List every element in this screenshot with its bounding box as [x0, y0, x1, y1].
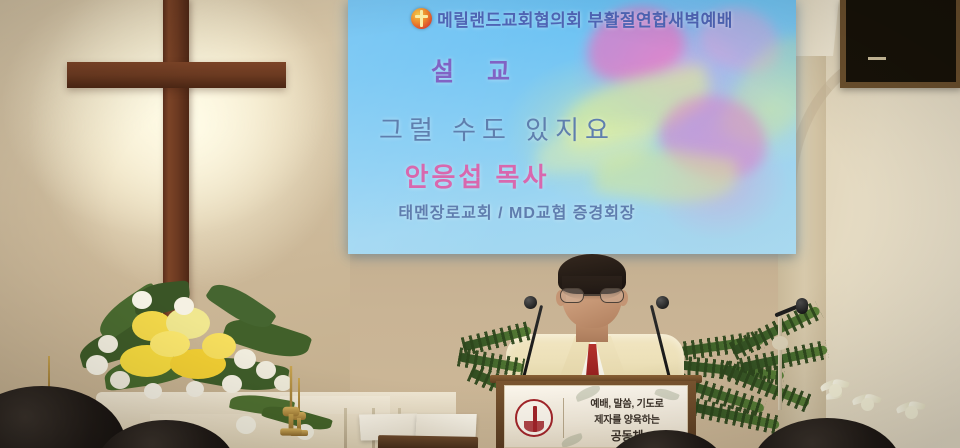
framed-panel-icon [840, 0, 960, 88]
microphone-stand [760, 300, 804, 410]
slide-title: 메릴랜드교회협의회 부활절연합새벽예배 [437, 6, 733, 31]
microphone-icon [642, 296, 682, 386]
banner-line-1: 예배, 말씀, 기도로 [590, 395, 663, 410]
white-flower-icon [236, 416, 256, 434]
open-bible-icon [360, 410, 480, 448]
white-lily-icon [820, 378, 850, 402]
white-lily-icon [896, 400, 926, 424]
slide-speaker-affiliation: 태멘장로교회 / MD교협 증경회장 [348, 199, 796, 223]
cross-horizontal-beam [67, 62, 286, 88]
banner-line-2: 제자를 양육하는 [594, 411, 660, 426]
church-seal-logo-icon [515, 399, 553, 437]
banner-divider [563, 398, 564, 438]
projection-screen: 메릴랜드교회협의회 부활절연합새벽예배 설 교 그럴 수도 있지요 안응섭 목사… [348, 0, 796, 254]
microphone-icon [796, 298, 808, 314]
white-lily-icon [852, 392, 882, 416]
microphone-icon [512, 296, 552, 386]
slide-sermon-title: 그럴 수도 있지요 [348, 110, 796, 147]
church-service-photo: 메릴랜드교회협의회 부활절연합새벽예배 설 교 그럴 수도 있지요 안응섭 목사… [0, 0, 960, 448]
md-church-council-cross-logo-icon [411, 8, 432, 29]
slide-header: 메릴랜드교회협의회 부활절연합새벽예배 [348, 6, 796, 31]
slide-speaker-name: 안응섭 목사 [348, 157, 796, 194]
slide-sermon-kind-label: 설 교 [348, 52, 796, 88]
eyeglasses-icon [560, 288, 624, 303]
altar-flower-arrangement [74, 283, 306, 413]
